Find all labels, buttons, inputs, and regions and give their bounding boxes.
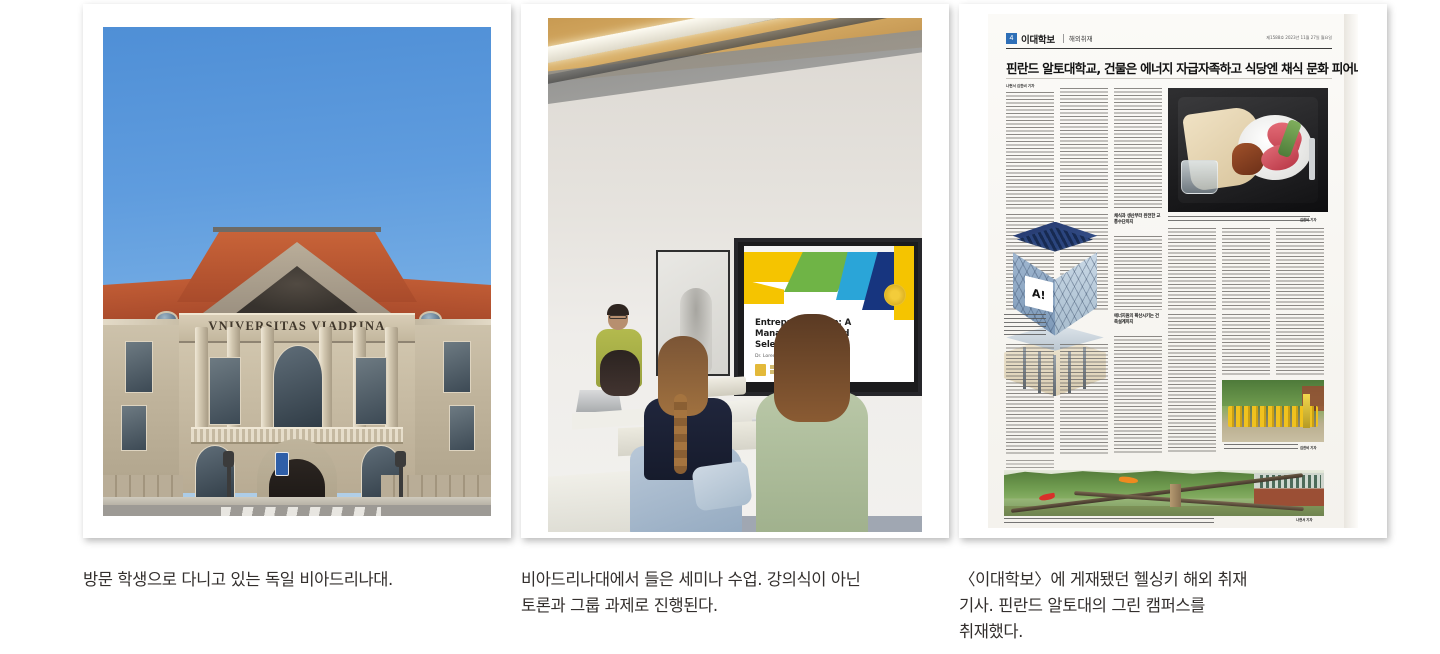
caption-seminar: 비아드리나대에서 들은 세미나 수업. 강의식이 아닌 토론과 그룹 과제로 진…: [521, 567, 961, 619]
street-lamp-left-head: [223, 451, 234, 467]
body-text-col-6c: [1276, 314, 1324, 376]
student-green-jacket-hair: [774, 314, 850, 422]
body-text-col-3c: [1114, 336, 1162, 454]
body-text-col-2c: [1060, 344, 1108, 454]
column-1: [195, 327, 208, 435]
lecturer-glasses-icon: [609, 315, 627, 319]
newspaper-masthead: 4 이대학보 해외취재 제1588호 2023년 11월 27일 월요일: [1006, 32, 1332, 49]
figure-credit-bicycles: 김한비 기자: [1300, 445, 1317, 450]
caption-newspaper: 〈이대학보〉에 게재됐던 헬싱키 해외 취재 기사. 핀란드 알토대의 그린 캠…: [959, 567, 1399, 645]
body-text-col-4b: [1168, 228, 1216, 310]
lecturer-hair: [607, 304, 629, 315]
student-background-hair: [600, 350, 640, 396]
newspaper-section: 해외취재: [1063, 34, 1093, 43]
wooden-post: [1170, 484, 1180, 507]
headline-rule: [1006, 78, 1332, 79]
newspaper-subhead-2: 에너지원의 확산시키는 건축설계까지: [1114, 314, 1162, 326]
body-text-col-2a: [1060, 88, 1108, 210]
body-text-col-3a: [1114, 88, 1162, 210]
body-text-col-5c: [1222, 314, 1270, 376]
newspaper-headline: 핀란드 알토대학교, 건물은 에너지 자급자족하고 식당엔 채식 문화 피어나: [1006, 58, 1332, 77]
blue-street-sign: [275, 452, 289, 476]
newspaper-page-edge: [1344, 14, 1358, 528]
photo-card-viadrina[interactable]: VNIVERSITAS VIADRINA: [83, 4, 511, 538]
building-inscription: VNIVERSITAS VIADRINA: [179, 315, 415, 337]
window-upper-left: [209, 357, 241, 425]
central-arched-window: [273, 345, 323, 431]
figure-caption-bicycles: [1224, 444, 1298, 452]
aalto-logo-text: A!: [1032, 287, 1046, 301]
newspaper-title: 이대학보: [1021, 32, 1055, 46]
window-upper-right: [355, 357, 387, 425]
photo-viadrina-building: VNIVERSITAS VIADRINA: [103, 27, 491, 516]
figure-caption-tray: [1168, 216, 1310, 224]
bike-station-sign: [1303, 394, 1310, 429]
university-seal-icon: [884, 284, 906, 306]
roof-ridge: [213, 227, 381, 232]
newspaper-figure-campus-panorama: [1004, 470, 1324, 516]
student-braided-jeans: [691, 460, 753, 511]
newspaper-issue-date: 제1588호 2023년 11월 27일 월요일: [1266, 35, 1332, 41]
window-wing-left-upper: [125, 341, 153, 393]
slide-shape-yellow-3: [744, 280, 784, 304]
figure-credit-tray: 김한비 기자: [1300, 217, 1317, 222]
window-wing-right-lower: [449, 405, 475, 451]
photo-seminar-classroom: Entrepreneurship: A Management-based Sel…: [548, 18, 922, 532]
newspaper-byline: 나현서 김한비 기자: [1006, 84, 1034, 89]
window-wing-right-upper: [443, 341, 471, 393]
student-background: [600, 350, 640, 416]
page-number: 4: [1006, 33, 1017, 44]
student-braid: [674, 394, 687, 474]
water-glass: [1181, 160, 1218, 194]
street-lamp-right-head: [395, 451, 406, 467]
body-text-col-5b: [1222, 228, 1270, 310]
window-wing-left-lower: [121, 405, 147, 451]
page-number-badge: 4: [1006, 33, 1017, 44]
aalto-logo-icon: A!: [1025, 275, 1053, 312]
crosswalk: [221, 507, 381, 516]
slide-shape-yellow-2: [894, 246, 914, 320]
figure-caption-panorama: [1004, 518, 1214, 523]
photo-card-newspaper[interactable]: 4 이대학보 해외취재 제1588호 2023년 11월 27일 월요일 핀란드…: [959, 4, 1387, 538]
body-text-col-3b: [1114, 236, 1162, 310]
body-text-col-4c: [1168, 314, 1216, 454]
newspaper-subhead-1: 채식과 생산부터 완전한 교통수단까지: [1114, 214, 1162, 226]
body-text-col-1a: [1006, 92, 1054, 210]
figure-credit-panorama: 나현서 기자: [1296, 517, 1313, 522]
student-braided: [640, 336, 736, 532]
chili-filling: [1232, 143, 1264, 175]
body-text-col-6b: [1276, 228, 1324, 310]
student-green-jacket: [754, 314, 870, 532]
body-text-col-1c: [1006, 344, 1054, 454]
photo-card-seminar[interactable]: Entrepreneurship: A Management-based Sel…: [521, 4, 949, 538]
figure-caption-isometric: [1004, 314, 1046, 336]
newspaper-figure-shared-bicycles: [1222, 380, 1324, 442]
newspaper-figure-cafeteria-tray: [1168, 88, 1328, 212]
caption-viadrina: 방문 학생으로 다니고 있는 독일 비아드리나대.: [83, 567, 513, 593]
fork: [1309, 138, 1315, 180]
photo-newspaper-page: 4 이대학보 해외취재 제1588호 2023년 11월 27일 월요일 핀란드…: [988, 14, 1358, 528]
gallery-stage: VNIVERSITAS VIADRINA: [0, 0, 1440, 654]
